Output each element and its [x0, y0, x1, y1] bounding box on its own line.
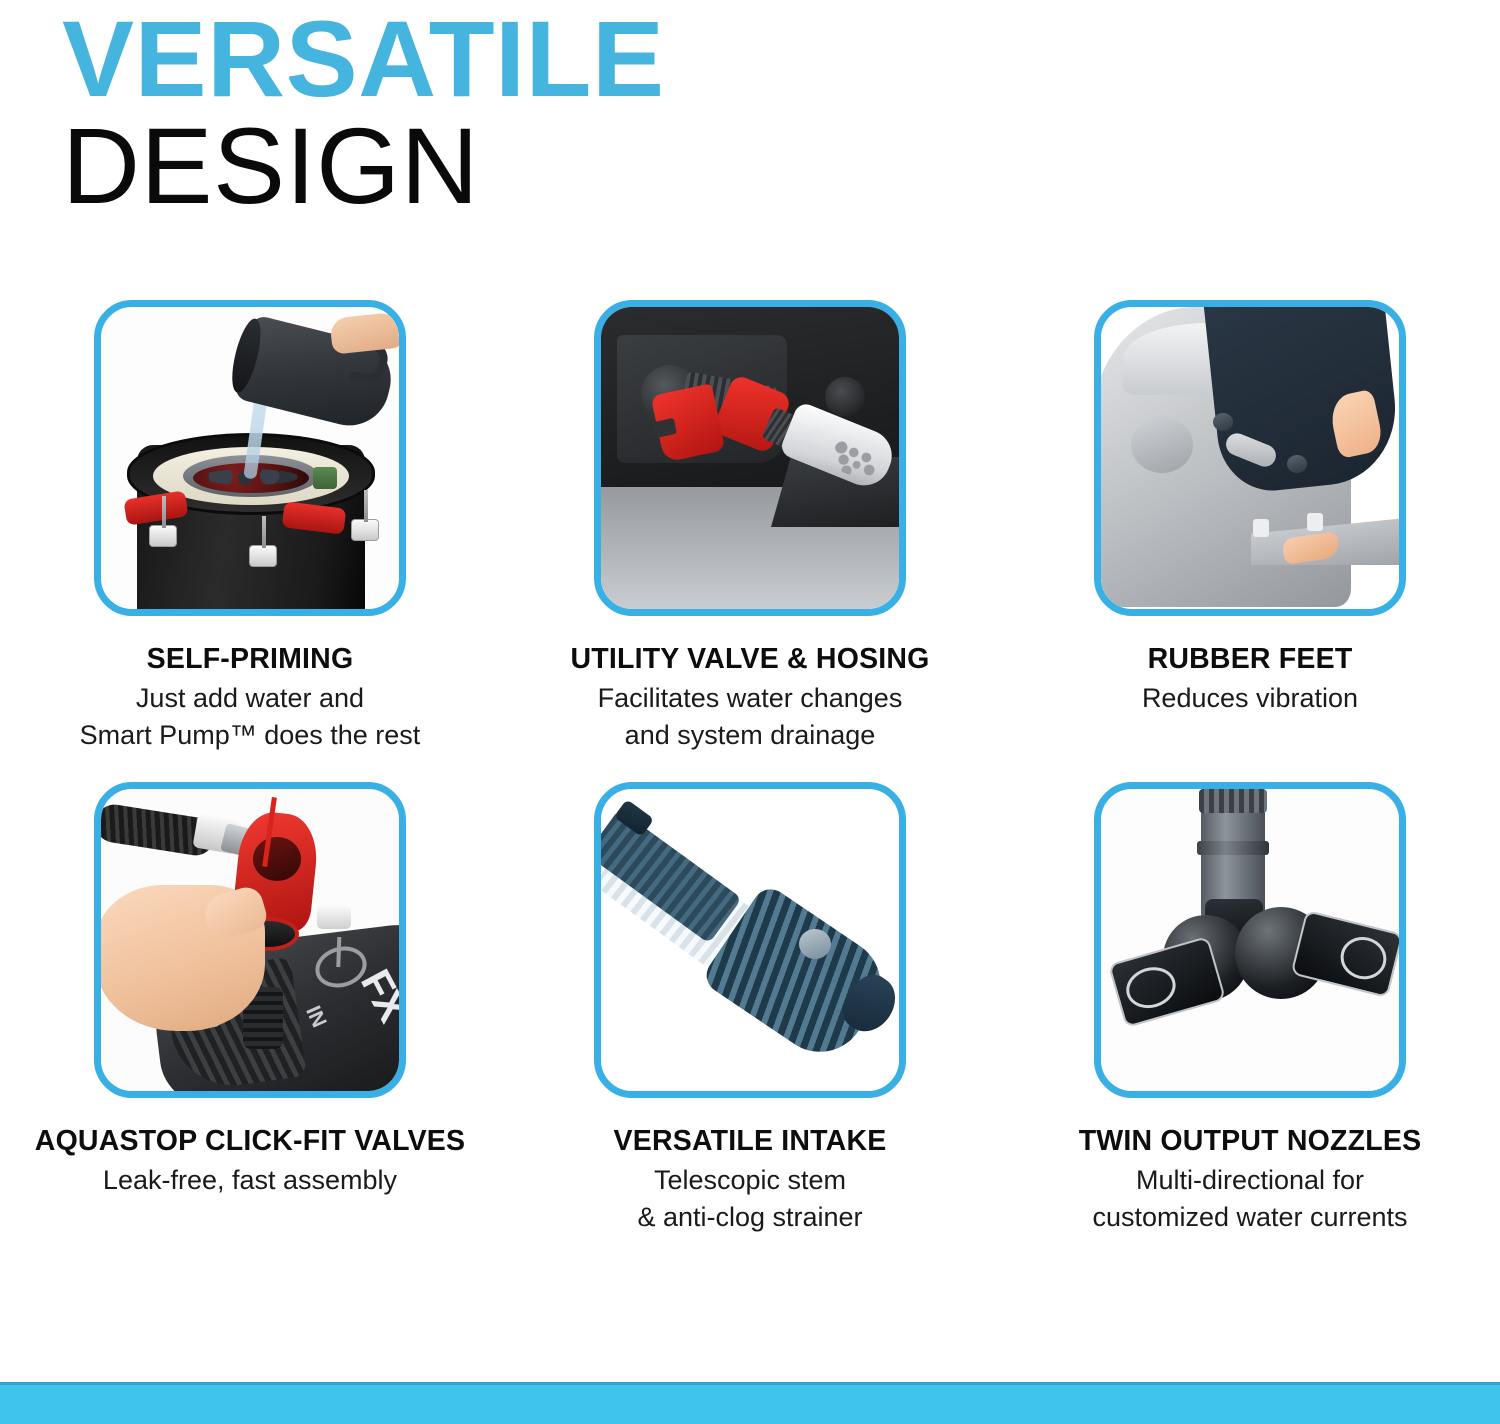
photo-pitcher-pouring-water-into-canister-filter: [101, 307, 399, 609]
feature-subtitle-line1: Leak-free, fast assembly: [20, 1162, 480, 1199]
feature-image-card-rubber-feet: [1094, 300, 1406, 616]
feature-title: TWIN OUTPUT NOZZLES: [1020, 1124, 1480, 1158]
feature-caption-twin-output-nozzles: TWIN OUTPUT NOZZLES Multi-directional fo…: [1020, 1124, 1480, 1236]
feature-subtitle-line1: Just add water and: [20, 680, 480, 717]
feature-cell-aquastop-click-fit-valves: FX IN AQUASTOP CLICK-FIT VA: [0, 782, 500, 1236]
feature-subtitle: Just add water and Smart Pump™ does the …: [20, 680, 480, 754]
feature-caption-utility-valve-hosing: UTILITY VALVE & HOSING Facilitates water…: [520, 642, 980, 754]
feature-subtitle: Multi-directional for customized water c…: [1020, 1162, 1480, 1236]
feature-caption-self-priming: SELF-PRIMING Just add water and Smart Pu…: [20, 642, 480, 754]
feature-title: AQUASTOP CLICK-FIT VALVES: [20, 1124, 480, 1158]
feature-cell-utility-valve-hosing: UTILITY VALVE & HOSING Facilitates water…: [500, 300, 1000, 754]
feature-grid: SELF-PRIMING Just add water and Smart Pu…: [0, 300, 1500, 1236]
feature-subtitle-line2: Smart Pump™ does the rest: [20, 717, 480, 754]
feature-subtitle: Leak-free, fast assembly: [20, 1162, 480, 1199]
feature-caption-aquastop-click-fit-valves: AQUASTOP CLICK-FIT VALVES Leak-free, fas…: [20, 1124, 480, 1199]
feature-cell-self-priming: SELF-PRIMING Just add water and Smart Pu…: [0, 300, 500, 754]
feature-subtitle-line1: Telescopic stem: [520, 1162, 980, 1199]
photo-hand-attaching-red-aquastop-valve-to-fx-lid: FX IN: [101, 789, 399, 1091]
feature-cell-versatile-intake: VERSATILE INTAKE Telescopic stem & anti-…: [500, 782, 1000, 1236]
feature-cell-twin-output-nozzles: TWIN OUTPUT NOZZLES Multi-directional fo…: [1000, 782, 1500, 1236]
photo-filter-base-underside-with-rubber-feet: [1101, 307, 1399, 609]
page-header: VERSATILE DESIGN: [62, 0, 665, 222]
feature-title: SELF-PRIMING: [20, 642, 480, 676]
feature-image-card-versatile-intake: [594, 782, 906, 1098]
feature-cell-rubber-feet: RUBBER FEET Reduces vibration: [1000, 300, 1500, 754]
feature-subtitle-line1: Multi-directional for: [1020, 1162, 1480, 1199]
page-title-secondary: DESIGN: [62, 110, 665, 222]
photo-telescopic-intake-strainer: [601, 789, 899, 1091]
feature-subtitle-line2: customized water currents: [1020, 1199, 1480, 1236]
feature-caption-versatile-intake: VERSATILE INTAKE Telescopic stem & anti-…: [520, 1124, 980, 1236]
photo-twin-ball-joint-output-nozzles: [1101, 789, 1399, 1091]
feature-image-card-self-priming: [94, 300, 406, 616]
feature-subtitle: Telescopic stem & anti-clog strainer: [520, 1162, 980, 1236]
feature-subtitle: Reduces vibration: [1020, 680, 1480, 717]
feature-subtitle-line2: & anti-clog strainer: [520, 1199, 980, 1236]
feature-subtitle-line1: Reduces vibration: [1020, 680, 1480, 717]
feature-image-card-aquastop-click-fit-valves: FX IN: [94, 782, 406, 1098]
feature-image-card-twin-output-nozzles: [1094, 782, 1406, 1098]
feature-title: RUBBER FEET: [1020, 642, 1480, 676]
feature-image-card-utility-valve-hosing: [594, 300, 906, 616]
page-title-primary: VERSATILE: [62, 0, 665, 118]
feature-title: VERSATILE INTAKE: [520, 1124, 980, 1158]
feature-subtitle-line1: Facilitates water changes: [520, 680, 980, 717]
infographic-page: VERSATILE DESIGN: [0, 0, 1500, 1424]
feature-title: UTILITY VALVE & HOSING: [520, 642, 980, 676]
feature-caption-rubber-feet: RUBBER FEET Reduces vibration: [1020, 642, 1480, 717]
bottom-accent-bar: [0, 1382, 1500, 1424]
feature-subtitle-line2: and system drainage: [520, 717, 980, 754]
feature-subtitle: Facilitates water changes and system dra…: [520, 680, 980, 754]
photo-red-utility-valve-with-white-hose-nozzle: [601, 307, 899, 609]
